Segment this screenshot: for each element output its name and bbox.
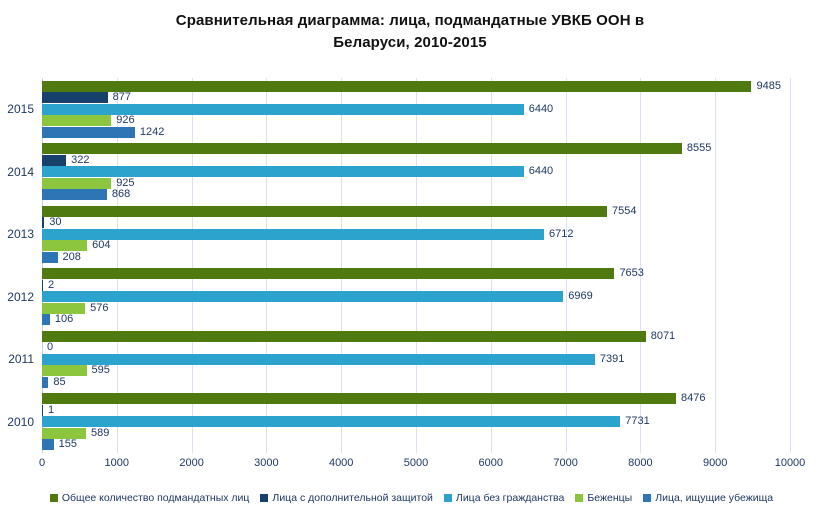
legend-label: Беженцы	[587, 492, 632, 504]
y-tick-label: 2013	[7, 227, 34, 241]
bar-value-label: 1242	[135, 124, 164, 140]
bar-group: 847617731589155	[42, 393, 790, 450]
y-tick-label: 2011	[8, 352, 34, 366]
bar[interactable]	[42, 354, 595, 365]
chart-title-line-2: Беларуси, 2010-2015	[333, 34, 486, 51]
x-tick-label: 0	[39, 456, 45, 470]
bar[interactable]	[42, 115, 111, 126]
bar-value-label: 604	[87, 237, 110, 253]
y-tick-label: 2014	[7, 165, 34, 179]
chart-title-line-1: Сравнительная диаграмма: лица, подмандат…	[176, 12, 644, 29]
legend-label: Лица, ищущие убежища	[655, 492, 773, 504]
legend-item[interactable]: Лица, ищущие убежища	[643, 492, 773, 504]
legend-swatch-icon	[444, 494, 452, 502]
x-tick-label: 10000	[775, 456, 806, 470]
legend-item[interactable]: Лица с дополнительной защитой	[260, 492, 433, 504]
bar-value-label: 589	[86, 425, 109, 441]
bar-group: 85553226440925868	[42, 143, 790, 200]
legend-item[interactable]: Беженцы	[575, 492, 632, 504]
bar-group: 948587764409261242	[42, 81, 790, 138]
x-tick-label: 2000	[179, 456, 203, 470]
legend-label: Лица без гражданства	[456, 492, 564, 504]
chart-root: Сравнительная диаграмма: лица, подмандат…	[0, 0, 823, 518]
x-tick-label: 7000	[553, 456, 577, 470]
plot-area: 9485877644092612428555322644092586875543…	[42, 78, 790, 453]
x-tick-label: 1000	[105, 456, 129, 470]
y-tick-label: 2010	[7, 415, 34, 429]
bar-value-label: 7731	[620, 413, 649, 429]
bar-value-label: 9485	[751, 78, 780, 94]
bar-value-label: 106	[50, 311, 73, 327]
bar-value-label: 8555	[682, 140, 711, 156]
bar-value-label: 7653	[614, 265, 643, 281]
bar-value-label: 8476	[676, 390, 705, 406]
bar[interactable]	[42, 331, 646, 342]
bar[interactable]	[42, 81, 751, 92]
bar-value-label: 155	[54, 436, 77, 452]
x-tick-label: 6000	[479, 456, 503, 470]
bar-group: 7554306712604208	[42, 206, 790, 263]
bar-value-label: 868	[107, 186, 130, 202]
bar-value-label: 7554	[607, 203, 636, 219]
bar[interactable]	[42, 92, 108, 103]
bar-group: 80710739159585	[42, 331, 790, 388]
y-tick-label: 2012	[7, 290, 34, 304]
legend-item[interactable]: Общее количество подмандатных лиц	[50, 492, 250, 504]
bar[interactable]	[42, 252, 58, 263]
legend-swatch-icon	[260, 494, 268, 502]
bar[interactable]	[42, 178, 111, 189]
bar-value-label: 6712	[544, 226, 573, 242]
bar[interactable]	[42, 268, 614, 279]
x-tick-label: 3000	[254, 456, 278, 470]
bars-layer: 9485877644092612428555322644092586875543…	[42, 78, 790, 453]
bar[interactable]	[42, 439, 54, 450]
chart-title: Сравнительная диаграмма: лица, подмандат…	[90, 10, 730, 54]
gridline	[790, 78, 791, 453]
x-tick-label: 4000	[329, 456, 353, 470]
x-tick-label: 8000	[628, 456, 652, 470]
legend-swatch-icon	[643, 494, 651, 502]
x-tick-label: 5000	[404, 456, 428, 470]
legend-label: Общее количество подмандатных лиц	[62, 492, 250, 504]
bar[interactable]	[42, 155, 66, 166]
y-axis-category-labels: 201520142013201220112010	[0, 78, 40, 453]
x-axis-tick-labels: 0100020003000400050006000700080009000100…	[42, 456, 790, 474]
legend-swatch-icon	[50, 494, 58, 502]
chart-legend: Общее количество подмандатных лицЛица с …	[0, 488, 823, 508]
bar-group: 765326969576106	[42, 268, 790, 325]
legend-item[interactable]: Лица без гражданства	[444, 492, 564, 504]
bar-value-label: 595	[87, 362, 110, 378]
bar[interactable]	[42, 314, 50, 325]
bar-value-label: 85	[48, 374, 65, 390]
bar[interactable]	[42, 127, 135, 138]
legend-label: Лица с дополнительной защитой	[272, 492, 433, 504]
bar[interactable]	[42, 189, 107, 200]
bar[interactable]	[42, 143, 682, 154]
bar[interactable]	[42, 206, 607, 217]
bar[interactable]	[42, 416, 620, 427]
bar[interactable]	[42, 229, 544, 240]
bar-value-label: 6969	[563, 288, 592, 304]
bar-value-label: 7391	[595, 351, 624, 367]
bar-value-label: 8071	[646, 328, 675, 344]
bar-value-label: 576	[85, 300, 108, 316]
y-tick-label: 2015	[7, 102, 34, 116]
legend-swatch-icon	[575, 494, 583, 502]
bar-value-label: 6440	[524, 101, 553, 117]
bar-value-label: 208	[58, 249, 81, 265]
x-tick-label: 9000	[703, 456, 727, 470]
bar[interactable]	[42, 291, 563, 302]
bar-value-label: 6440	[524, 163, 553, 179]
bar[interactable]	[42, 393, 676, 404]
